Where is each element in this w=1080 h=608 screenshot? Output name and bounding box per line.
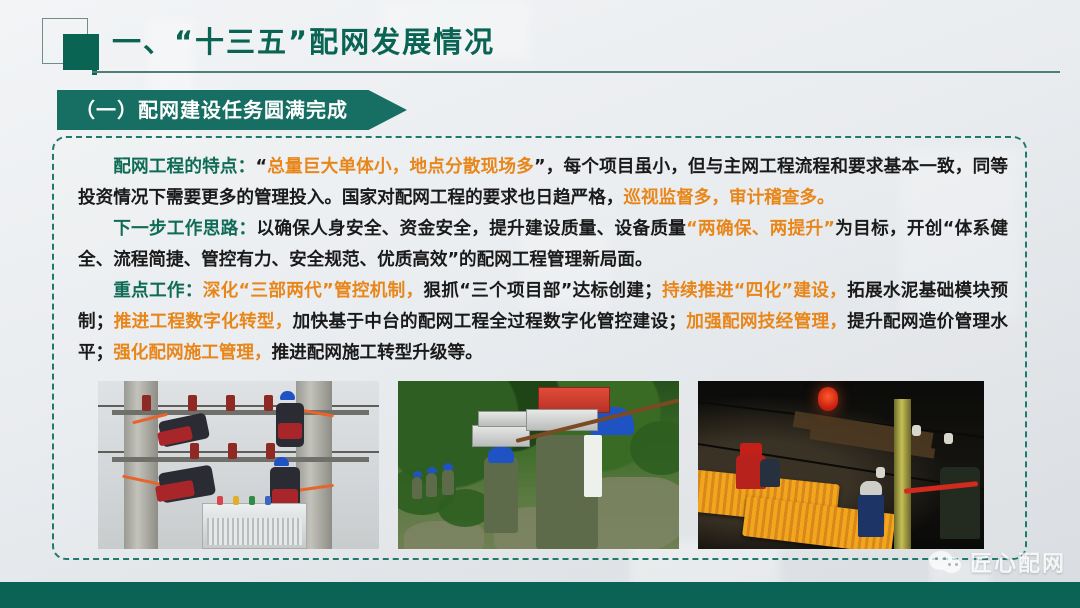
insulator: [876, 467, 885, 478]
insulator: [226, 395, 235, 411]
photo-linemen-transformer: [98, 381, 379, 549]
bushing: [265, 496, 271, 505]
porter: [442, 469, 454, 495]
header-rule-cap: [92, 62, 97, 75]
text-run: 持续推进“四化”建设，: [662, 281, 847, 301]
towel: [584, 435, 602, 497]
text-run: 加强配网技经管理，: [686, 312, 847, 332]
helmet: [413, 471, 422, 477]
helmet: [443, 463, 453, 470]
insulator: [188, 395, 197, 411]
insulator: [266, 443, 275, 459]
red-lantern: [818, 387, 838, 411]
helmet: [488, 447, 514, 463]
text-run: 以确保人身安全、资金安全，提升建设质量、设备质量: [256, 219, 686, 239]
text-run: 加快基于中台的配网工程全过程数字化管控建设；: [293, 312, 686, 332]
text-run: 深化“三部两代”管控机制，: [203, 281, 424, 301]
photo-village-night-worksite: [698, 381, 984, 549]
paragraph-key-work: 重点工作：深化“三部两代”管控机制，狠抓“三个项目部”达标创建；持续推进“四化”…: [78, 276, 1008, 369]
wechat-eye: [935, 557, 938, 560]
insulator: [190, 443, 199, 459]
slide-header: 一、“十三五”配网发展情况: [0, 0, 1080, 80]
helmet: [274, 457, 289, 466]
distribution-transformer: [202, 503, 307, 549]
porter: [426, 473, 437, 497]
insulator: [912, 425, 921, 436]
text-run: 狠抓“三个项目部”达标创建；: [423, 281, 661, 301]
carried-equipment: [472, 425, 530, 447]
watermark: 匠心配网: [929, 546, 1066, 578]
wechat-eye: [948, 563, 951, 566]
text-run: 重点工作：: [113, 281, 203, 301]
text-run: 巡视监督多，审计稽查多。: [623, 188, 834, 208]
insulator: [228, 443, 237, 459]
bushing: [217, 496, 223, 505]
paragraph-next-steps: 下一步工作思路：以确保人身安全、资金安全，提升建设质量、设备质量“两确保、两提升…: [78, 214, 1008, 276]
watermark-text: 匠心配网: [970, 546, 1066, 578]
text-run: 下一步工作思路：: [113, 219, 256, 239]
header-divider: [92, 71, 1060, 73]
utility-pole: [124, 381, 158, 549]
wechat-eye: [943, 557, 946, 560]
villager: [760, 459, 780, 487]
text-run: “两确保、两提升”: [686, 219, 835, 239]
helmet: [860, 481, 882, 495]
carried-equipment: [478, 411, 528, 427]
section-banner-label: （一）配网建设任务圆满完成: [75, 90, 348, 130]
insulator: [264, 395, 273, 411]
footer-bar: [0, 582, 1080, 608]
text-run: 推进工程数字化转型，: [113, 312, 292, 332]
helmet: [427, 467, 437, 473]
body-copy: 配网工程的特点：“总量巨大单体小，地点分散现场多”，每个项目虽小，但与主网工程流…: [78, 152, 1008, 369]
text-run: 配网工程的特点：: [113, 157, 255, 177]
safety-vest: [278, 423, 302, 439]
worker: [940, 467, 980, 539]
text-run: 总量巨大单体小，地点分散现场多: [267, 157, 534, 177]
bushing: [233, 496, 239, 505]
text-run: 强化配网施工管理，: [113, 343, 271, 363]
wechat-eye: [955, 563, 958, 566]
porter: [412, 477, 422, 499]
photo-strip: [98, 381, 984, 549]
porter: [484, 457, 518, 533]
paragraph-features: 配网工程的特点：“总量巨大单体小，地点分散现场多”，每个项目虽小，但与主网工程流…: [78, 152, 1008, 214]
worker: [858, 493, 884, 537]
bushing: [249, 496, 255, 505]
text-run: 推进配网施工转型升级等。: [272, 343, 483, 363]
utility-pole: [894, 399, 911, 549]
crossarm: [112, 457, 369, 462]
page-title: 一、“十三五”配网发展情况: [112, 19, 495, 61]
text-run: “: [255, 157, 267, 177]
insulator: [142, 395, 151, 411]
photo-porters-mountain: [398, 381, 679, 549]
section-banner: （一）配网建设任务圆满完成: [57, 90, 407, 130]
helmet: [280, 391, 295, 400]
insulator: [944, 433, 953, 444]
wechat-icon: [929, 549, 963, 575]
